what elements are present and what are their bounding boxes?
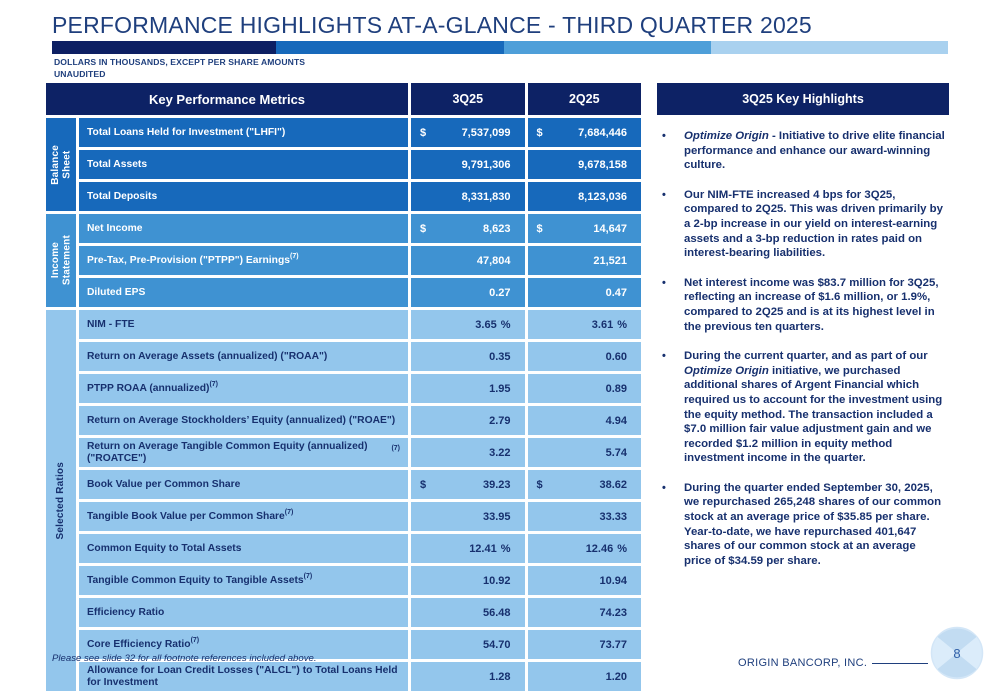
- brand-footer: ORIGIN BANCORP, INC.: [738, 657, 928, 669]
- currency-symbol: $: [537, 127, 543, 139]
- brand-name: ORIGIN BANCORP, INC.: [738, 657, 867, 669]
- footnote-text: Please see slide 32 for all footnote ref…: [52, 653, 317, 664]
- row-label: Return on Average Stockholders’ Equity (…: [79, 406, 408, 435]
- cell-value: 21,521: [593, 255, 627, 267]
- value-3q25: 2.79: [411, 406, 525, 435]
- bullet-icon: •: [657, 349, 684, 466]
- row-label: Efficiency Ratio: [79, 598, 408, 627]
- emphasized-term: Optimize Origin: [684, 365, 769, 377]
- value-2q25: $7,684,446: [528, 118, 642, 147]
- value-2q25: 73.77: [528, 630, 642, 659]
- bullet-icon: •: [657, 481, 684, 569]
- table-row: Net Income$8,623$14,647: [79, 214, 641, 243]
- value-3q25: 47,804: [411, 246, 525, 275]
- value-3q25: 56.48: [411, 598, 525, 627]
- cell-value: 0.89: [606, 383, 627, 395]
- highlight-item: •Net interest income was $83.7 million f…: [657, 276, 949, 334]
- value-2q25: 33.33: [528, 502, 642, 531]
- highlight-item: •During the quarter ended September 30, …: [657, 481, 949, 569]
- cell-value: 0.47: [606, 287, 627, 299]
- highlight-text: Our NIM-FTE increased 4 bps for 3Q25, co…: [684, 188, 949, 261]
- row-label: Net Income: [79, 214, 408, 243]
- value-3q25: 0.35: [411, 342, 525, 371]
- value-2q25: 8,123,036: [528, 182, 642, 211]
- value-3q25: 8,331,830: [411, 182, 525, 211]
- currency-symbol: $: [537, 223, 543, 235]
- value-3q25: $7,537,099: [411, 118, 525, 147]
- highlight-text: During the quarter ended September 30, 2…: [684, 481, 949, 569]
- value-3q25: $8,623: [411, 214, 525, 243]
- percent-symbol: %: [617, 543, 627, 555]
- cell-value: 1.28: [489, 671, 510, 683]
- key-performance-metrics-table: Key Performance Metrics 3Q25 2Q25 Balanc…: [46, 83, 641, 691]
- row-label: NIM - FTE: [79, 310, 408, 339]
- bullet-icon: •: [657, 129, 684, 173]
- value-3q25: 9,791,306: [411, 150, 525, 179]
- cell-value: 38.62: [599, 479, 627, 491]
- table-row: Tangible Common Equity to Tangible Asset…: [79, 566, 641, 595]
- value-3q25: 0.27: [411, 278, 525, 307]
- value-2q25: 5.74: [528, 438, 642, 467]
- row-label: Book Value per Common Share: [79, 470, 408, 499]
- row-label: Return on Average Tangible Common Equity…: [79, 438, 408, 467]
- cell-value: 10.92: [483, 575, 511, 587]
- cell-value: 73.77: [599, 639, 627, 651]
- table-group: Selected RatiosNIM - FTE3.65%3.61%Return…: [46, 310, 641, 691]
- row-label: Total Deposits: [79, 182, 408, 211]
- row-label: Common Equity to Total Assets: [79, 534, 408, 563]
- brand-rule: [872, 663, 928, 664]
- value-3q25: 10.92: [411, 566, 525, 595]
- row-label: PTPP ROAA (annualized)(7): [79, 374, 408, 403]
- cell-value: 9,791,306: [462, 159, 511, 171]
- value-3q25: 12.41%: [411, 534, 525, 563]
- value-3q25: $39.23: [411, 470, 525, 499]
- key-highlights-panel: 3Q25 Key Highlights •Optimize Origin - I…: [657, 83, 949, 583]
- page-title: PERFORMANCE HIGHLIGHTS AT-A-GLANCE - THI…: [52, 12, 812, 39]
- value-2q25: 4.94: [528, 406, 642, 435]
- group-rows: Net Income$8,623$14,647Pre-Tax, Pre-Prov…: [79, 214, 641, 307]
- currency-symbol: $: [537, 479, 543, 491]
- cell-value: 54.70: [483, 639, 511, 651]
- highlight-item: •Our NIM-FTE increased 4 bps for 3Q25, c…: [657, 188, 949, 261]
- table-row: Common Equity to Total Assets12.41%12.46…: [79, 534, 641, 563]
- table-row: Total Deposits8,331,8308,123,036: [79, 182, 641, 211]
- group-rows: NIM - FTE3.65%3.61%Return on Average Ass…: [79, 310, 641, 691]
- cell-value: 0.27: [489, 287, 510, 299]
- cell-value: 56.48: [483, 607, 511, 619]
- highlights-list: •Optimize Origin - Initiative to drive e…: [657, 115, 949, 568]
- highlight-text: Optimize Origin - Initiative to drive el…: [684, 129, 949, 173]
- value-3q25: 1.95: [411, 374, 525, 403]
- cell-value: 3.22: [489, 447, 510, 459]
- table-body: Balance SheetTotal Loans Held for Invest…: [46, 118, 641, 691]
- cell-value: 12.41: [469, 543, 497, 555]
- cell-value: 33.95: [483, 511, 511, 523]
- cell-value: 12.46: [586, 543, 614, 555]
- group-rows: Total Loans Held for Investment ("LHFI")…: [79, 118, 641, 211]
- table-group: Balance SheetTotal Loans Held for Invest…: [46, 118, 641, 211]
- cell-value: 7,684,446: [578, 127, 627, 139]
- value-3q25: 54.70: [411, 630, 525, 659]
- percent-symbol: %: [501, 319, 511, 331]
- row-label: Total Loans Held for Investment ("LHFI"): [79, 118, 408, 147]
- value-3q25: 33.95: [411, 502, 525, 531]
- column-header-3q25: 3Q25: [411, 83, 525, 115]
- page-number: 8: [929, 625, 985, 681]
- highlight-item: •Optimize Origin - Initiative to drive e…: [657, 129, 949, 173]
- value-2q25: 21,521: [528, 246, 642, 275]
- table-row: PTPP ROAA (annualized)(7)1.950.89: [79, 374, 641, 403]
- emphasized-term: Optimize Origin: [684, 130, 769, 142]
- value-2q25: 0.47: [528, 278, 642, 307]
- value-2q25: $14,647: [528, 214, 642, 243]
- highlight-text: During the current quarter, and as part …: [684, 349, 949, 466]
- value-2q25: 74.23: [528, 598, 642, 627]
- value-2q25: 10.94: [528, 566, 642, 595]
- table-row: Pre-Tax, Pre-Provision ("PTPP") Earnings…: [79, 246, 641, 275]
- table-row: NIM - FTE3.65%3.61%: [79, 310, 641, 339]
- accent-segment-1: [52, 41, 276, 54]
- bullet-icon: •: [657, 276, 684, 334]
- row-label: Tangible Book Value per Common Share(7): [79, 502, 408, 531]
- table-row: Book Value per Common Share$39.23$38.62: [79, 470, 641, 499]
- accent-segment-3: [504, 41, 710, 54]
- value-2q25: 0.60: [528, 342, 642, 371]
- table-row: Total Loans Held for Investment ("LHFI")…: [79, 118, 641, 147]
- value-3q25: 3.22: [411, 438, 525, 467]
- cell-value: 0.60: [606, 351, 627, 363]
- accent-segment-4: [711, 41, 948, 54]
- accent-segment-2: [276, 41, 504, 54]
- cell-value: 4.94: [606, 415, 627, 427]
- origin-compass-logo: 8: [929, 625, 985, 681]
- cell-value: 39.23: [483, 479, 511, 491]
- slide-canvas: PERFORMANCE HIGHLIGHTS AT-A-GLANCE - THI…: [0, 0, 1000, 685]
- table-row: Return on Average Tangible Common Equity…: [79, 438, 641, 467]
- cell-value: 8,623: [483, 223, 511, 235]
- highlight-text: Net interest income was $83.7 million fo…: [684, 276, 949, 334]
- currency-symbol: $: [420, 223, 426, 235]
- cell-value: 7,537,099: [462, 127, 511, 139]
- row-label: Diluted EPS: [79, 278, 408, 307]
- currency-symbol: $: [420, 127, 426, 139]
- percent-symbol: %: [617, 319, 627, 331]
- row-label: Tangible Common Equity to Tangible Asset…: [79, 566, 408, 595]
- table-header-row: Key Performance Metrics 3Q25 2Q25: [46, 83, 641, 115]
- table-row: Allowance for Loan Credit Losses ("ALCL"…: [79, 662, 641, 691]
- row-label: Return on Average Assets (annualized) ("…: [79, 342, 408, 371]
- table-row: Efficiency Ratio56.4874.23: [79, 598, 641, 627]
- table-row: Total Assets9,791,3069,678,158: [79, 150, 641, 179]
- cell-value: 8,331,830: [462, 191, 511, 203]
- percent-symbol: %: [501, 543, 511, 555]
- cell-value: 2.79: [489, 415, 510, 427]
- value-2q25: 1.20: [528, 662, 642, 691]
- row-label: Pre-Tax, Pre-Provision ("PTPP") Earnings…: [79, 246, 408, 275]
- cell-value: 1.95: [489, 383, 510, 395]
- table-row: Return on Average Stockholders’ Equity (…: [79, 406, 641, 435]
- cell-value: 5.74: [606, 447, 627, 459]
- group-label-balance-sheet: Balance Sheet: [46, 118, 76, 211]
- value-2q25: 9,678,158: [528, 150, 642, 179]
- table-row: Diluted EPS0.270.47: [79, 278, 641, 307]
- table-group: Income StatementNet Income$8,623$14,647P…: [46, 214, 641, 307]
- value-3q25: 3.65%: [411, 310, 525, 339]
- row-label: Allowance for Loan Credit Losses ("ALCL"…: [79, 662, 408, 691]
- cell-value: 8,123,036: [578, 191, 627, 203]
- cell-value: 74.23: [599, 607, 627, 619]
- cell-value: 0.35: [489, 351, 510, 363]
- units-caption: DOLLARS IN THOUSANDS, EXCEPT PER SHARE A…: [54, 57, 305, 80]
- bullet-icon: •: [657, 188, 684, 261]
- cell-value: 33.33: [599, 511, 627, 523]
- cell-value: 3.61: [592, 319, 613, 331]
- row-label: Total Assets: [79, 150, 408, 179]
- group-label-selected-ratios: Selected Ratios: [46, 310, 76, 691]
- cell-value: 9,678,158: [578, 159, 627, 171]
- value-3q25: 1.28: [411, 662, 525, 691]
- value-2q25: 3.61%: [528, 310, 642, 339]
- cell-value: 10.94: [599, 575, 627, 587]
- table-row: Tangible Book Value per Common Share(7)3…: [79, 502, 641, 531]
- cell-value: 47,804: [477, 255, 511, 267]
- cell-value: 14,647: [593, 223, 627, 235]
- highlights-header: 3Q25 Key Highlights: [657, 83, 949, 115]
- column-header-metrics: Key Performance Metrics: [46, 83, 408, 115]
- value-2q25: 0.89: [528, 374, 642, 403]
- highlight-item: •During the current quarter, and as part…: [657, 349, 949, 466]
- cell-value: 3.65: [475, 319, 496, 331]
- value-2q25: 12.46%: [528, 534, 642, 563]
- accent-bar: [52, 41, 948, 54]
- value-2q25: $38.62: [528, 470, 642, 499]
- currency-symbol: $: [420, 479, 426, 491]
- column-header-2q25: 2Q25: [528, 83, 642, 115]
- cell-value: 1.20: [606, 671, 627, 683]
- group-label-income-statement: Income Statement: [46, 214, 76, 307]
- table-row: Return on Average Assets (annualized) ("…: [79, 342, 641, 371]
